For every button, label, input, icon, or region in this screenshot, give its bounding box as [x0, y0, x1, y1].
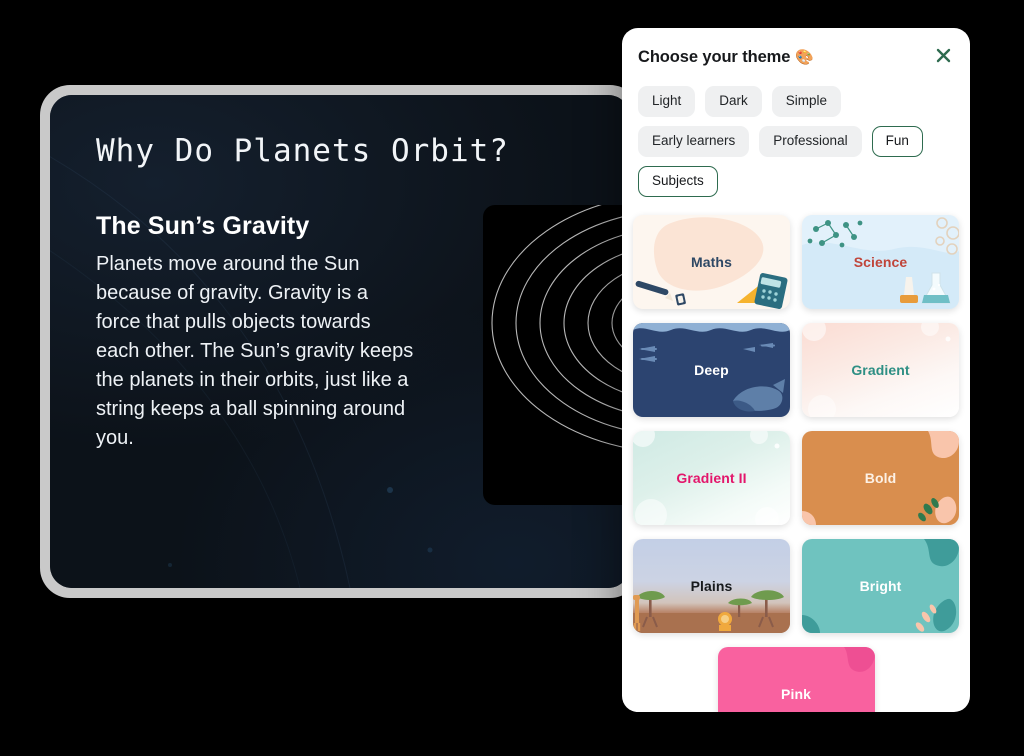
theme-card-bold[interactable]: Bold	[802, 431, 959, 525]
theme-card-grid: Maths	[622, 197, 970, 633]
theme-card-label: Pink	[781, 686, 811, 702]
theme-filter-chips: Light Dark Simple Early learners Profess…	[622, 67, 970, 197]
chip-simple[interactable]: Simple	[772, 86, 841, 117]
theme-card-plains[interactable]: Plains	[633, 539, 790, 633]
theme-card-label: Gradient	[851, 362, 909, 378]
theme-card-pink[interactable]: Pink	[718, 647, 875, 712]
theme-card-deep[interactable]: Deep	[633, 323, 790, 417]
slide-canvas[interactable]: Why Do Planets Orbit? The Sun’s Gravity …	[50, 95, 630, 588]
theme-card-label: Bold	[865, 470, 897, 486]
slide-device-frame: Why Do Planets Orbit? The Sun’s Gravity …	[40, 85, 640, 598]
bubbles-decoration	[936, 218, 959, 254]
chip-light[interactable]: Light	[638, 86, 695, 117]
theme-card-gradient-ii[interactable]: Gradient II	[633, 431, 790, 525]
theme-card-label: Gradient II	[676, 470, 746, 486]
chip-dark[interactable]: Dark	[705, 86, 762, 117]
panel-title: Choose your theme	[638, 48, 790, 67]
close-panel-button[interactable]	[930, 42, 956, 68]
whale-icon	[733, 379, 785, 412]
theme-card-label: Deep	[694, 362, 729, 378]
theme-chooser-panel: Choose your theme🎨 Light Dark Simple Ear…	[622, 28, 970, 712]
theme-card-gradient[interactable]: Gradient	[802, 323, 959, 417]
chip-professional[interactable]: Professional	[759, 126, 861, 157]
chip-subjects[interactable]: Subjects	[638, 166, 718, 197]
pink-card-artwork	[718, 647, 875, 712]
chip-fun[interactable]: Fun	[872, 126, 923, 157]
slide-subtitle: The Sun’s Gravity	[96, 212, 309, 241]
slide-body-text: Planets move around the Sun because of g…	[96, 250, 416, 453]
fish-decoration	[639, 343, 775, 362]
theme-card-label: Science	[854, 254, 908, 270]
theme-card-bright[interactable]: Bright	[802, 539, 959, 633]
screen-root: Why Do Planets Orbit? The Sun’s Gravity …	[0, 0, 1024, 756]
calculator-icon	[754, 272, 788, 309]
panel-header: Choose your theme🎨	[622, 28, 970, 67]
saturn-orbit-illustration	[483, 205, 630, 505]
theme-card-label: Maths	[691, 254, 732, 270]
slide-title: Why Do Planets Orbit?	[96, 133, 509, 169]
lion-icon	[718, 612, 732, 631]
chip-early-learners[interactable]: Early learners	[638, 126, 749, 157]
theme-card-maths[interactable]: Maths	[633, 215, 790, 309]
theme-card-label: Bright	[860, 578, 902, 594]
notebook-icon	[675, 293, 686, 306]
featured-theme-row: Pink	[622, 633, 970, 712]
pencil-icon	[635, 280, 673, 301]
theme-card-science[interactable]: Science	[802, 215, 959, 309]
close-icon	[935, 47, 952, 64]
palette-icon: 🎨	[795, 49, 814, 66]
theme-card-label: Plains	[691, 578, 733, 594]
